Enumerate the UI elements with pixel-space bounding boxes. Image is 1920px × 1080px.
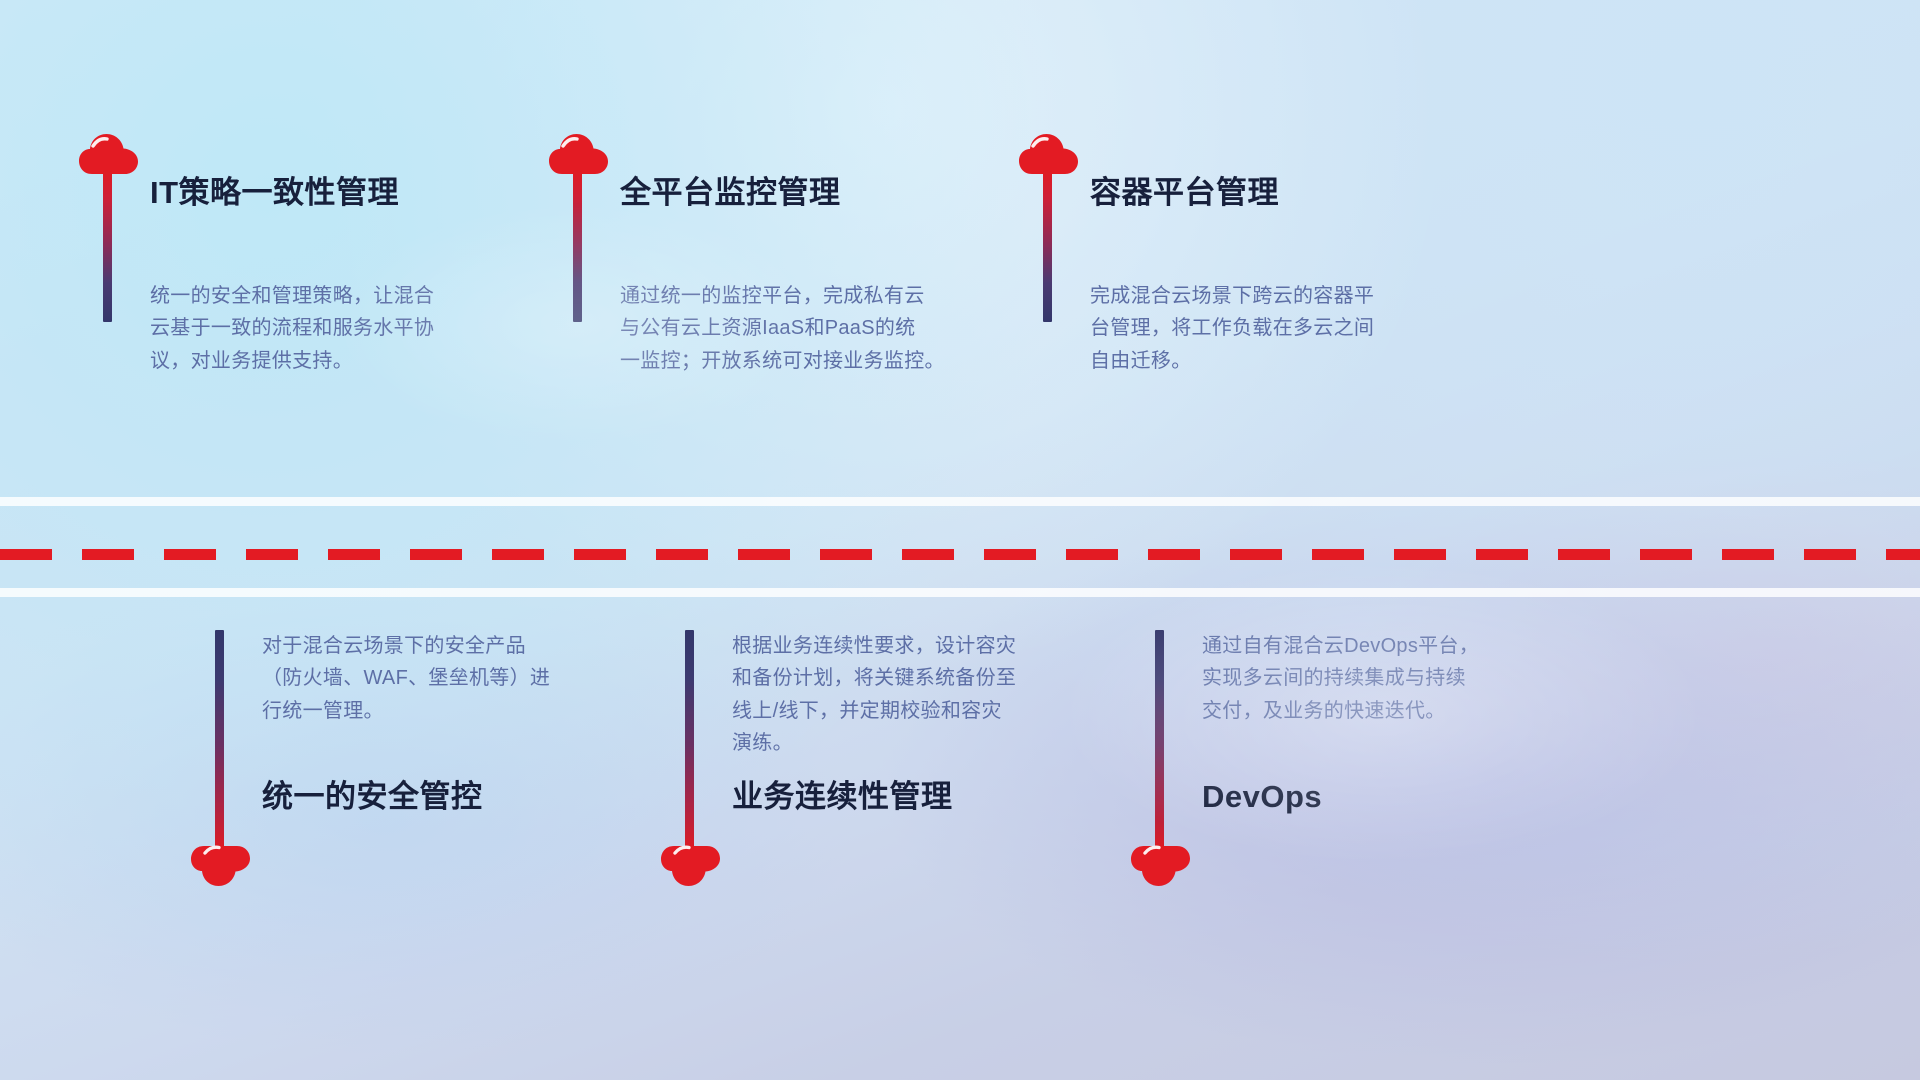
- card-body: 统一的安全和管理策略，让混合 云基于一致的流程和服务水平协 议，对业务提供支持。: [150, 280, 510, 377]
- cloud-icon: [1130, 844, 1192, 888]
- card-title: 统一的安全管控: [262, 778, 483, 815]
- connector-line: [103, 170, 112, 322]
- card-title: 业务连续性管理: [732, 778, 953, 815]
- connector-line: [1155, 630, 1164, 852]
- card-title: 全平台监控管理: [620, 174, 841, 211]
- card-title: IT策略一致性管理: [150, 174, 399, 211]
- cloud-icon: [190, 844, 252, 888]
- cloud-icon: [660, 844, 722, 888]
- connector-line: [685, 630, 694, 852]
- infographic-canvas: IT策略一致性管理 统一的安全和管理策略，让混合 云基于一致的流程和服务水平协 …: [0, 0, 1920, 1080]
- connector-line: [1043, 170, 1052, 322]
- divider-line-lower: [0, 588, 1920, 597]
- dashed-separator: [0, 549, 1920, 560]
- card-body: 根据业务连续性要求，设计容灾 和备份计划，将关键系统备份至 线上/线下，并定期校…: [732, 630, 1092, 760]
- divider-line-upper: [0, 497, 1920, 506]
- card-title: 容器平台管理: [1090, 174, 1279, 211]
- card-body: 完成混合云场景下跨云的容器平 台管理，将工作负载在多云之间 自由迁移。: [1090, 280, 1450, 377]
- card-title: DevOps: [1202, 778, 1322, 815]
- card-body: 通过统一的监控平台，完成私有云 与公有云上资源IaaS和PaaS的统 一监控；开…: [620, 280, 980, 377]
- connector-line: [215, 630, 224, 852]
- connector-line: [573, 170, 582, 322]
- card-body: 通过自有混合云DevOps平台， 实现多云间的持续集成与持续 交付，及业务的快速…: [1202, 630, 1562, 727]
- card-body: 对于混合云场景下的安全产品 （防火墙、WAF、堡垒机等）进 行统一管理。: [262, 630, 622, 727]
